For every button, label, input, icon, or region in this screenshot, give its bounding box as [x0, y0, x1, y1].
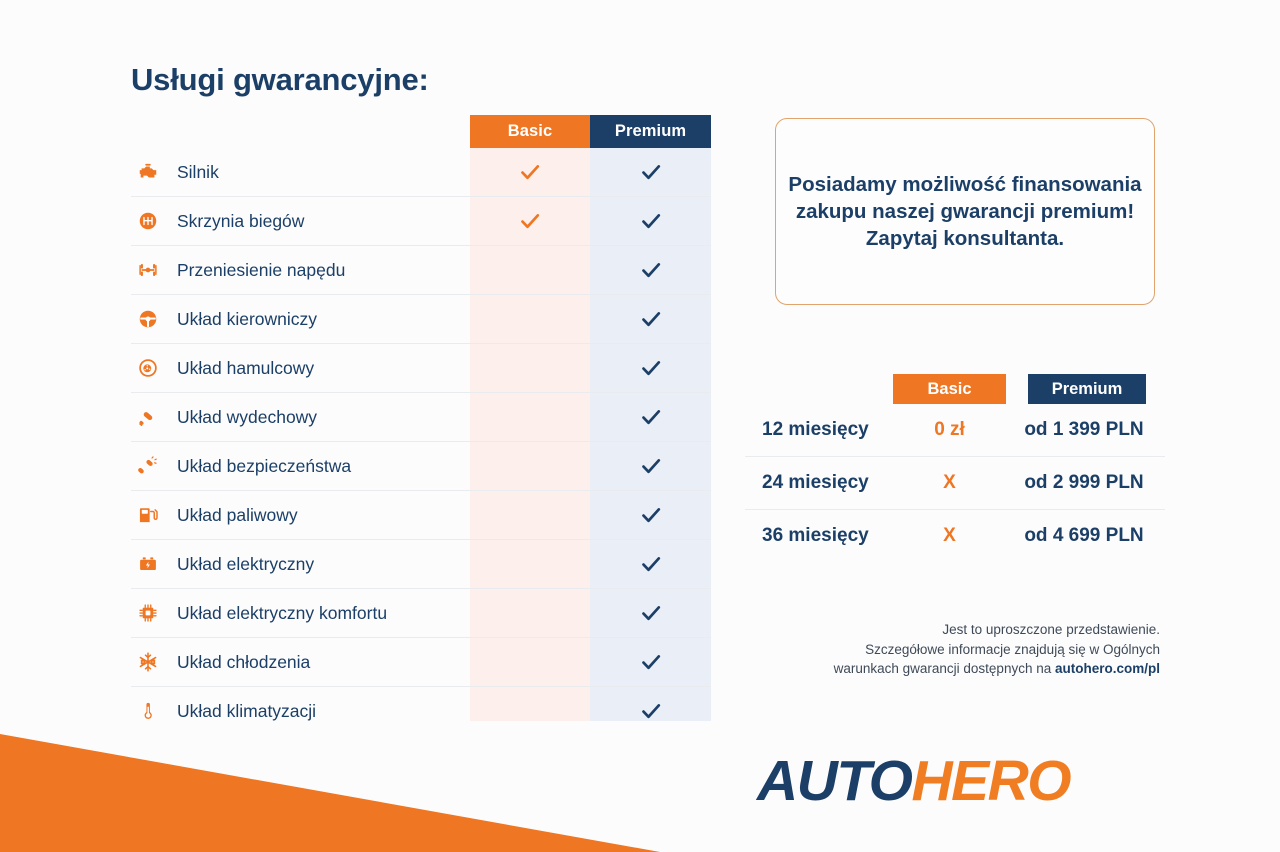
comparison-row: Układ bezpieczeństwa [131, 442, 711, 491]
comparison-cell-basic [470, 209, 590, 233]
autohero-website-link[interactable]: autohero.com/pl [1055, 661, 1160, 676]
pricing-table: Basic Premium 12 miesięcy0 złod 1 399 PL… [745, 374, 1165, 562]
battery-icon [131, 553, 165, 575]
fuel-pump-icon [131, 504, 165, 526]
comparison-header-row: Basic Premium [131, 115, 711, 148]
comparison-cell-premium [590, 356, 711, 380]
pricing-value-premium: od 1 399 PLN [1022, 419, 1146, 441]
pricing-term: 24 miesięcy [762, 472, 869, 494]
pricing-header-premium: Premium [1028, 374, 1146, 404]
comparison-row: Układ paliwowy [131, 491, 711, 540]
comparison-cell-premium [590, 699, 711, 723]
logo-part-auto: AUTO [757, 749, 911, 813]
financing-promo-box: Posiadamy możliwość finansowania zakupu … [775, 118, 1155, 305]
comparison-cell-premium [590, 405, 711, 429]
disclaimer-line-2: Szczegółowe informacje znajdują się w Og… [760, 640, 1160, 660]
comparison-row: Układ hamulcowy [131, 344, 711, 393]
comparison-row: Układ kierowniczy [131, 295, 711, 344]
comparison-cell-premium [590, 307, 711, 331]
comparison-cell-premium [590, 160, 711, 184]
warranty-comparison-table: Basic Premium SilnikSkrzynia biegówPrzen… [131, 115, 711, 735]
comparison-cell-premium [590, 552, 711, 576]
exhaust-icon [131, 406, 165, 428]
comparison-cell-premium [590, 503, 711, 527]
pricing-term: 12 miesięcy [762, 419, 869, 441]
comparison-row-label: Silnik [165, 162, 470, 183]
pricing-value-basic: X [893, 472, 1006, 494]
pricing-value-basic: 0 zł [893, 419, 1006, 441]
comparison-row-label: Przeniesienie napędu [165, 260, 470, 281]
airbag-sensor-icon [131, 455, 165, 477]
pricing-rows: 12 miesięcy0 złod 1 399 PLN24 miesięcyXo… [745, 404, 1165, 562]
comparison-row-label: Skrzynia biegów [165, 211, 470, 232]
comparison-cell-premium [590, 650, 711, 674]
comparison-row-label: Układ elektryczny [165, 554, 470, 575]
comparison-row: Układ chłodzenia [131, 638, 711, 687]
poster-canvas: Usługi gwarancyjne: Basic Premium Silnik… [0, 0, 1280, 852]
logo-part-hero: HERO [911, 749, 1070, 813]
brake-disc-icon [131, 357, 165, 379]
pricing-row: 36 miesięcyXod 4 699 PLN [745, 509, 1165, 562]
disclaimer-line-3: warunkach gwarancji dostępnych na autohe… [760, 659, 1160, 679]
gearbox-icon [131, 210, 165, 232]
comparison-cell-premium [590, 258, 711, 282]
comparison-row-label: Układ kierowniczy [165, 309, 470, 330]
chip-icon [131, 602, 165, 624]
comparison-row: Silnik [131, 148, 711, 197]
thermometer-icon [131, 700, 165, 722]
pricing-row: 12 miesięcy0 złod 1 399 PLN [745, 404, 1165, 456]
pricing-value-premium: od 4 699 PLN [1022, 525, 1146, 547]
comparison-row-label: Układ chłodzenia [165, 652, 470, 673]
pricing-value-premium: od 2 999 PLN [1022, 472, 1146, 494]
disclaimer-line-1: Jest to uproszczone przedstawienie. [760, 620, 1160, 640]
comparison-row: Układ klimatyzacji [131, 687, 711, 735]
comparison-row-label: Układ elektryczny komfortu [165, 603, 470, 624]
comparison-row: Układ elektryczny komfortu [131, 589, 711, 638]
pricing-value-basic: X [893, 525, 1006, 547]
comparison-cell-premium [590, 209, 711, 233]
disclaimer: Jest to uproszczone przedstawienie. Szcz… [760, 620, 1160, 679]
comparison-row-label: Układ wydechowy [165, 407, 470, 428]
page-title: Usługi gwarancyjne: [131, 62, 429, 98]
snowflake-icon [131, 651, 165, 673]
comparison-rows: SilnikSkrzynia biegówPrzeniesienie napęd… [131, 148, 711, 735]
steering-wheel-icon [131, 308, 165, 330]
comparison-row: Układ wydechowy [131, 393, 711, 442]
comparison-cell-basic [470, 160, 590, 184]
pricing-header-basic: Basic [893, 374, 1006, 404]
column-header-premium: Premium [590, 115, 711, 148]
comparison-row: Skrzynia biegów [131, 197, 711, 246]
drivetrain-icon [131, 259, 165, 281]
engine-icon [131, 161, 165, 183]
comparison-row: Przeniesienie napędu [131, 246, 711, 295]
comparison-cell-premium [590, 601, 711, 625]
column-header-basic: Basic [470, 115, 590, 148]
pricing-term: 36 miesięcy [762, 525, 869, 547]
disclaimer-line-3-prefix: warunkach gwarancji dostępnych na [834, 661, 1055, 676]
comparison-row-label: Układ hamulcowy [165, 358, 470, 379]
autohero-logo: AUTOHERO [757, 748, 1070, 814]
pricing-row: 24 miesięcyXod 2 999 PLN [745, 456, 1165, 509]
comparison-row: Układ elektryczny [131, 540, 711, 589]
comparison-cell-premium [590, 454, 711, 478]
comparison-row-label: Układ klimatyzacji [165, 701, 470, 722]
comparison-row-label: Układ bezpieczeństwa [165, 456, 470, 477]
financing-promo-text: Posiadamy możliwość finansowania zakupu … [776, 171, 1154, 252]
comparison-row-label: Układ paliwowy [165, 505, 470, 526]
pricing-header-row: Basic Premium [745, 374, 1165, 404]
